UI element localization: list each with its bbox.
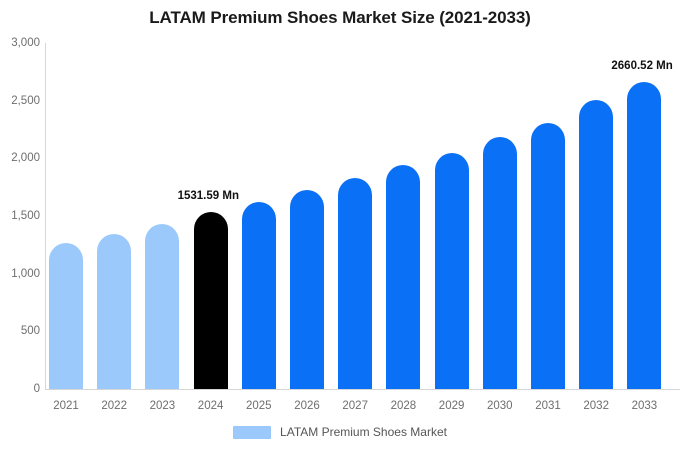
bar[interactable] (49, 243, 83, 389)
bar[interactable] (242, 202, 276, 389)
bar[interactable] (579, 100, 613, 389)
bar[interactable] (386, 165, 420, 389)
y-axis: 05001,0001,5002,0002,5003,000 (0, 0, 40, 450)
bar[interactable] (531, 123, 565, 389)
bar[interactable] (290, 190, 324, 389)
y-axis-tick-label: 1,000 (2, 268, 40, 280)
y-axis-tick-label: 2,000 (2, 152, 40, 164)
bar[interactable] (145, 224, 179, 389)
bar-value-label: 2660.52 Mn (611, 60, 672, 72)
bar[interactable] (97, 234, 131, 389)
bar-value-label: 1531.59 Mn (178, 190, 239, 202)
y-axis-tick-label: 1,500 (2, 210, 40, 222)
legend-label: LATAM Premium Shoes Market (280, 425, 447, 439)
bar-chart: LATAM Premium Shoes Market Size (2021-20… (0, 0, 680, 450)
chart-legend: LATAM Premium Shoes Market (0, 425, 680, 439)
y-axis-tick-label: 500 (2, 325, 40, 337)
bar[interactable] (435, 153, 469, 389)
bars-layer: 2021202220232024202520262027202820292030… (45, 0, 680, 450)
bar[interactable] (483, 137, 517, 389)
x-axis-tick-label: 2033 (614, 400, 674, 412)
y-axis-tick-label: 3,000 (2, 37, 40, 49)
bar[interactable] (194, 212, 228, 389)
bar[interactable] (338, 178, 372, 389)
bar[interactable] (627, 82, 661, 389)
y-axis-tick-label: 2,500 (2, 95, 40, 107)
legend-swatch (233, 426, 271, 439)
y-axis-tick-label: 0 (2, 383, 40, 395)
